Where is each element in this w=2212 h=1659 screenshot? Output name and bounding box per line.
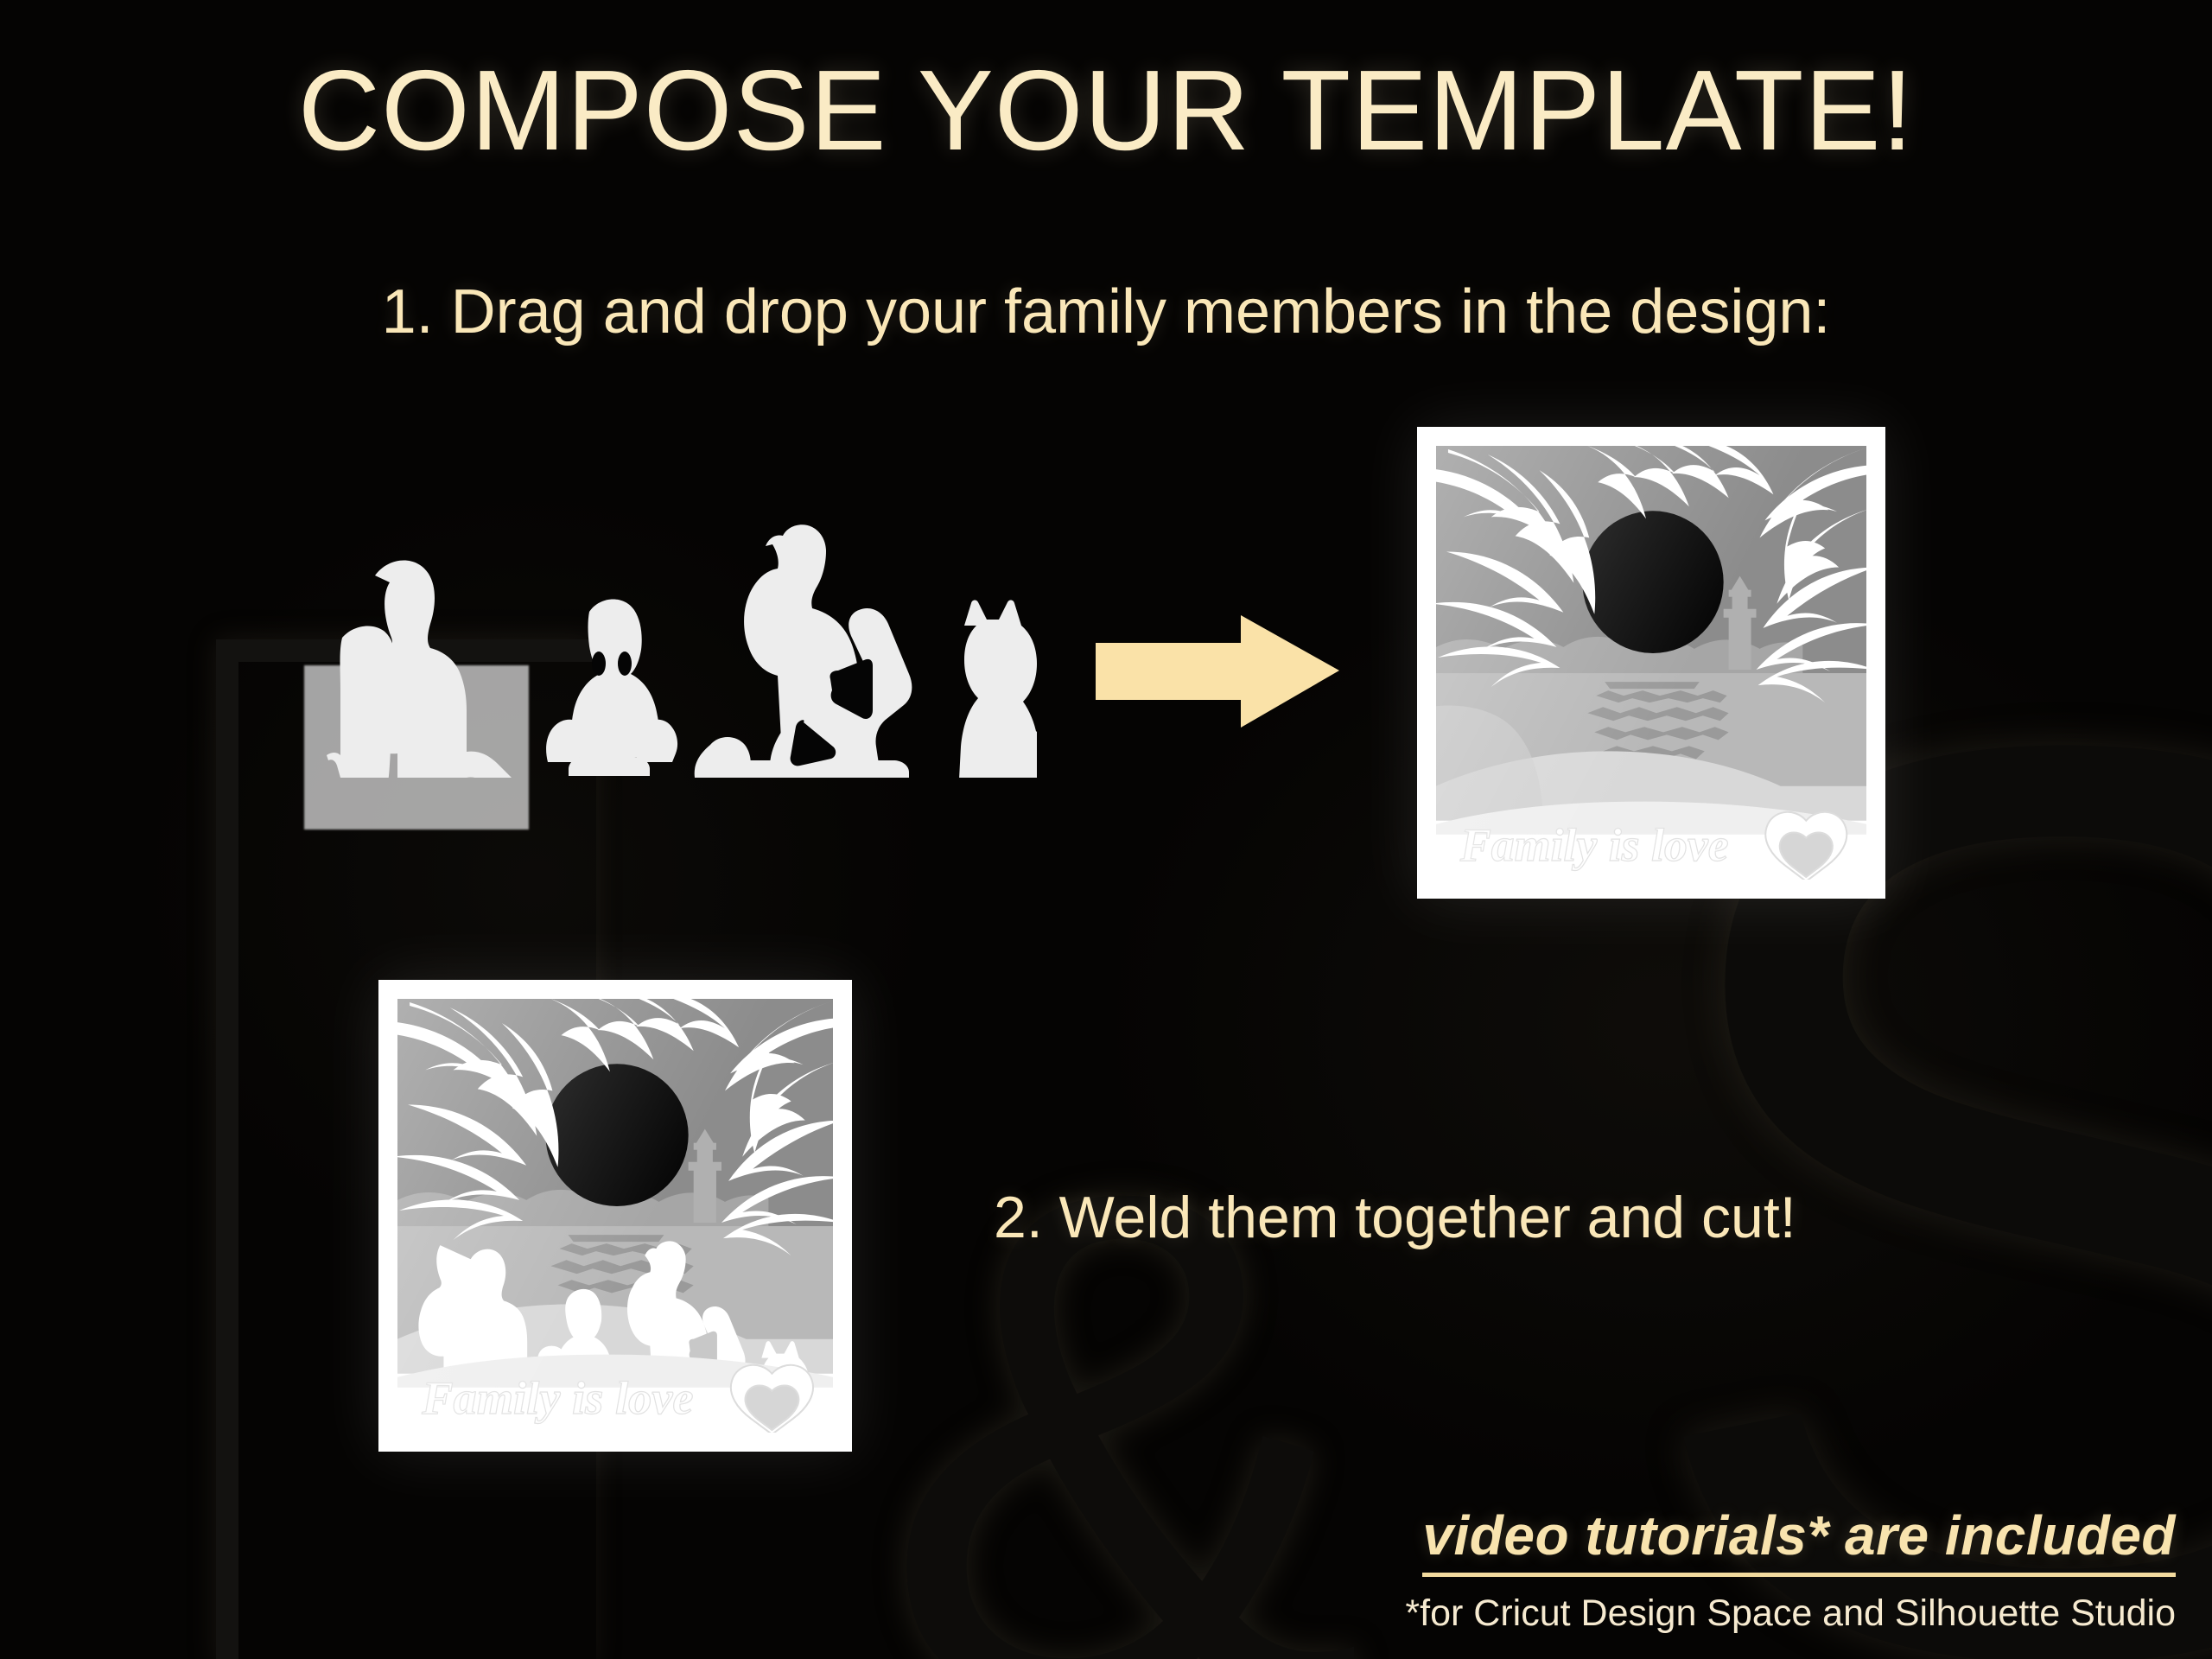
page-title: COMPOSE YOUR TEMPLATE! [0, 45, 2212, 175]
step-1-instruction: 1. Drag and drop your family members in … [0, 276, 2212, 347]
right-arrow-icon [1096, 615, 1339, 728]
step-2-instruction: 2. Weld them together and cut! [994, 1184, 1796, 1251]
papercut-caption-text: Family is love [1459, 819, 1729, 871]
child-sitting-silhouette [546, 599, 677, 776]
papercut-template-blank[interactable]: Family is love [1417, 427, 1885, 899]
woman-sitting-silhouette [327, 560, 567, 778]
watermark-ampersand: & [881, 1084, 1365, 1659]
sun-circle [1582, 511, 1723, 653]
papercut-blank-inner: Family is love [1436, 446, 1866, 880]
man-sitting-silhouette [695, 524, 912, 778]
papercut-composed-inner: Family is love [397, 999, 833, 1433]
video-tutorials-label: video tutorials* are included [1422, 1503, 2176, 1577]
family-members-silhouettes[interactable] [285, 518, 1037, 778]
sun-circle [545, 1064, 688, 1206]
footer-block: video tutorials* are included *for Cricu… [1405, 1503, 2176, 1635]
footer-note: *for Cricut Design Space and Silhouette … [1405, 1592, 2176, 1635]
cat-sitting-silhouette [959, 600, 1037, 778]
papercut-template-with-family[interactable]: Family is love [378, 980, 852, 1452]
papercut-caption-text: Family is love [421, 1372, 693, 1424]
